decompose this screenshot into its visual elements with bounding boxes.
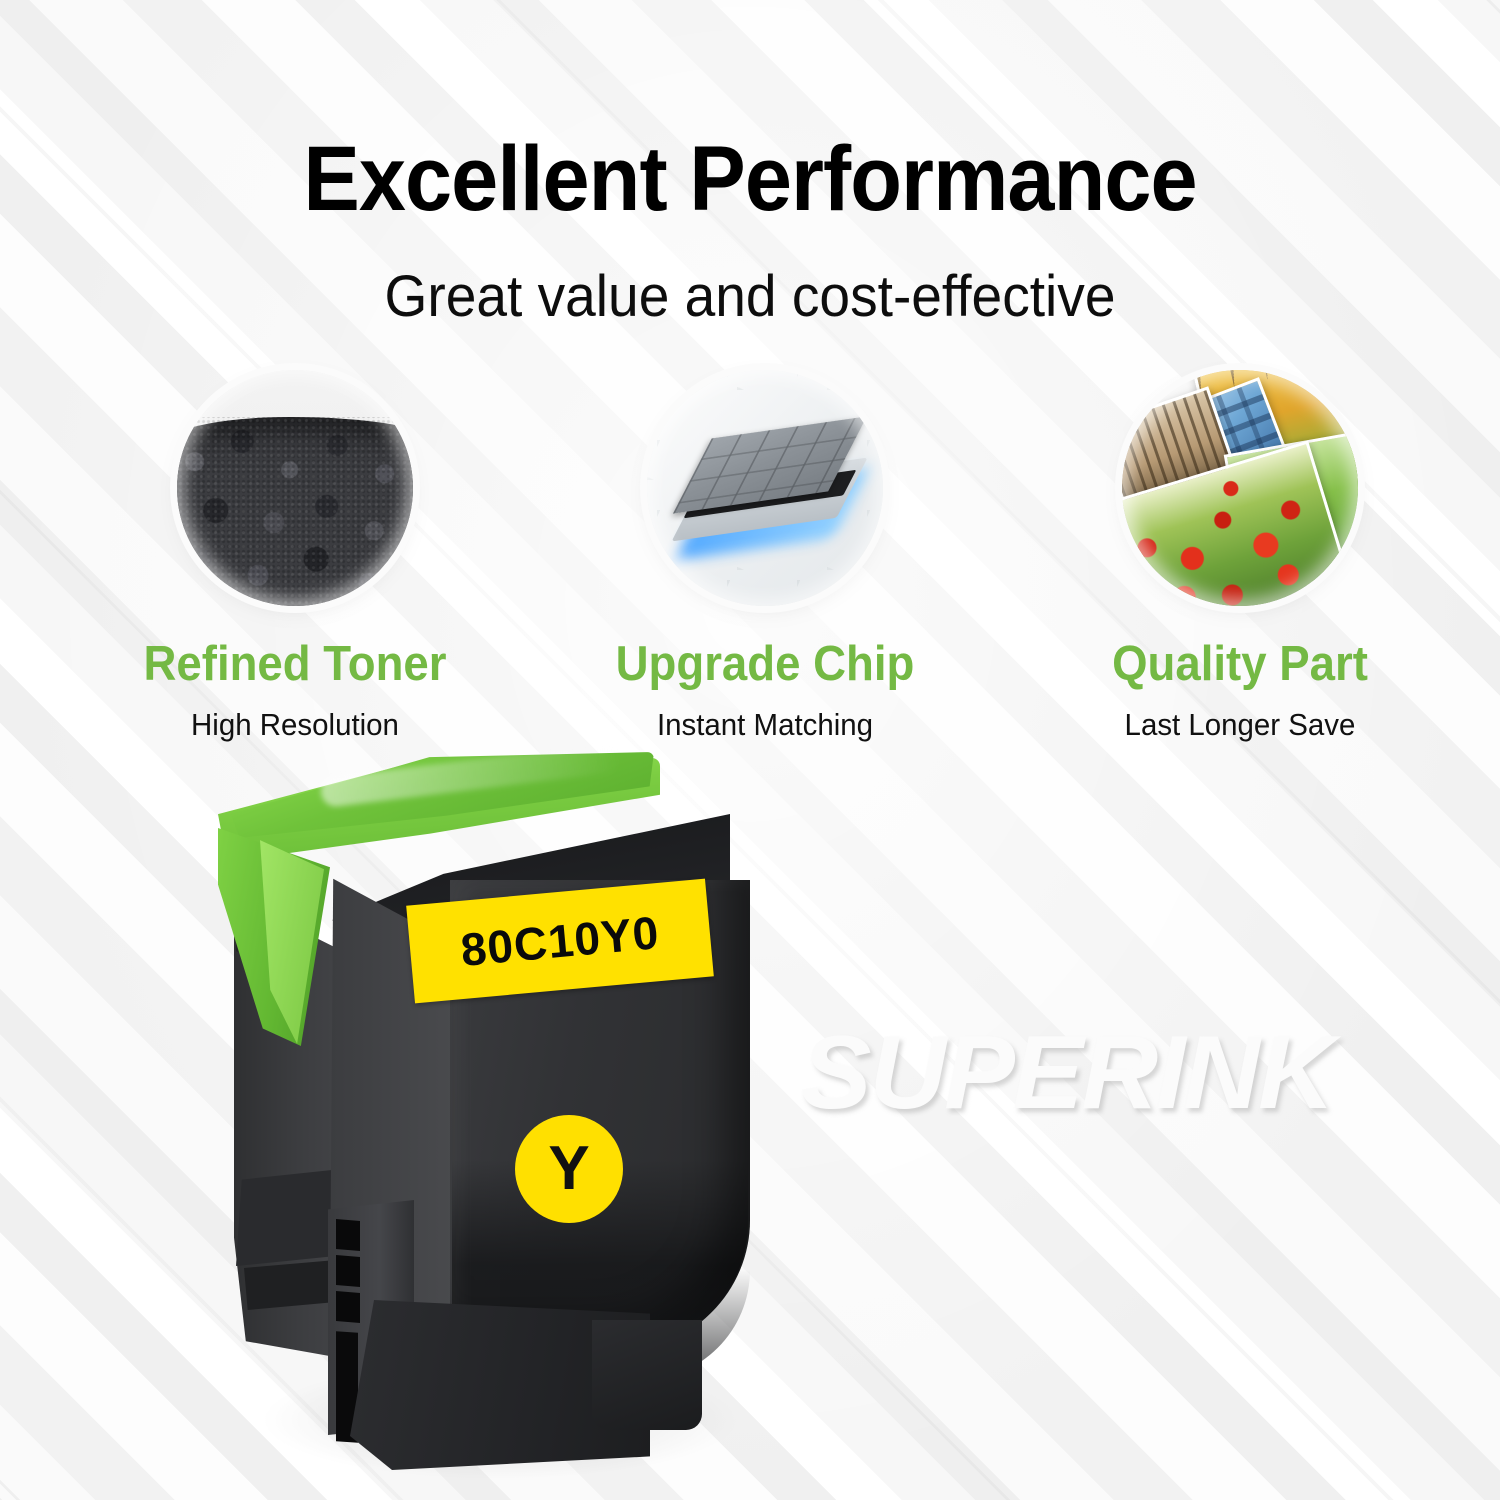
toner-cartridge-product-image: 80C10Y0 Y [200,740,820,1500]
cartridge-bottom-foot [592,1320,702,1430]
cartridge-rib-slot [336,1291,360,1323]
feature-title: Refined Toner [90,640,499,689]
feature-subtitle: High Resolution [86,709,504,740]
brand-watermark: SUPERINK [801,1014,1333,1133]
product-infographic: Excellent Performance Great value and co… [0,0,1500,1500]
cartridge-side-foot [244,1260,336,1310]
feature-title: Quality Part [1035,640,1444,689]
feature-item-refined-toner: Refined Toner High Resolution [75,370,515,740]
feature-subtitle: Instant Matching [556,709,974,740]
microchip-icon [647,370,883,606]
cartridge-rib-slot [336,1255,360,1287]
cartridge-rib-slot [336,1219,360,1251]
feature-title: Upgrade Chip [560,640,969,689]
cartridge-side-tab-lower [236,1170,332,1266]
feature-list: Refined Toner High Resolution Upgrade Ch… [0,370,1500,770]
feature-item-quality-part: Quality Part Last Longer Save [1020,370,1460,740]
feature-subtitle: Last Longer Save [1031,709,1449,740]
page-title: Excellent Performance [60,133,1440,225]
photo-collage-icon [1122,370,1358,606]
color-badge-yellow: Y [515,1115,623,1223]
powder-heap [177,417,413,606]
powder-grain-texture [177,417,413,606]
photo-collage-image [1122,370,1358,606]
feature-item-upgrade-chip: Upgrade Chip Instant Matching [545,370,985,740]
toner-powder-image [177,370,413,606]
toner-powder-icon [177,370,413,606]
page-subtitle: Great value and cost-effective [38,268,1463,326]
microchip-image [647,370,883,606]
